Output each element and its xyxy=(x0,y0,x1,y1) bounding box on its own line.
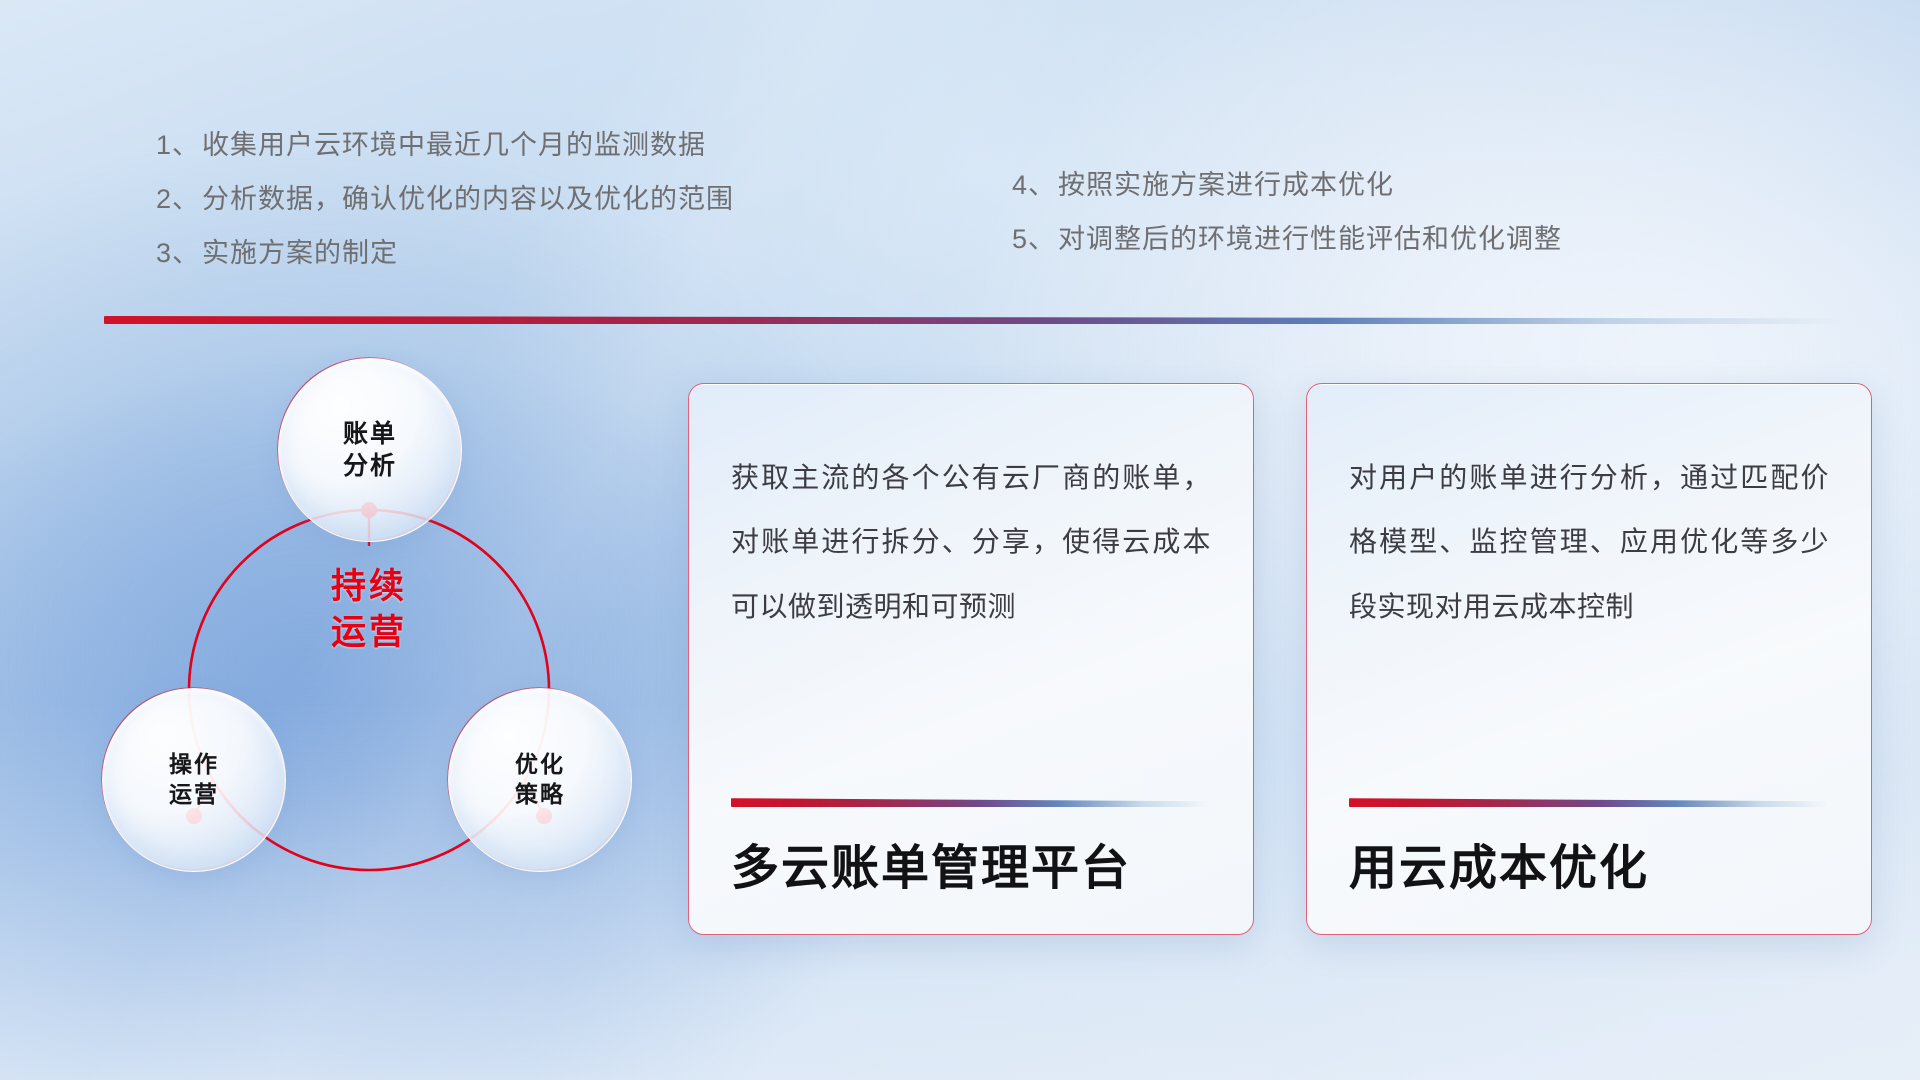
bubble-label-line2: 策略 xyxy=(515,780,565,810)
cycle-diagram: 账单 分析 操作 运营 优化 策略 持续 运营 xyxy=(96,350,676,950)
bullet-number: 3、 xyxy=(156,240,200,267)
bullet-item-4: 4、 按照实施方案进行成本优化 xyxy=(1012,158,1562,212)
cycle-bubble-billing-analysis[interactable]: 账单 分析 xyxy=(278,358,462,542)
slide-canvas: 1、 收集用户云环境中最近几个月的监测数据 2、 分析数据，确认优化的内容以及优… xyxy=(0,0,1920,1080)
card-divider-rule xyxy=(731,798,1211,807)
bubble-label-line1: 优化 xyxy=(515,750,565,780)
bullet-text: 对调整后的环境进行性能评估和优化调整 xyxy=(1058,226,1562,253)
bubble-label-line2: 运营 xyxy=(169,780,219,810)
feature-card-cloud-cost-optimization[interactable]: 对用户的账单进行分析，通过匹配价格模型、监控管理、应用优化等多少段实现对用云成本… xyxy=(1306,383,1872,935)
bullet-item-2: 2、 分析数据，确认优化的内容以及优化的范围 xyxy=(156,172,734,226)
cycle-center-line1: 持续 xyxy=(278,564,460,610)
card-title: 多云账单管理平台 xyxy=(731,843,1211,896)
bullet-text: 分析数据，确认优化的内容以及优化的范围 xyxy=(202,186,734,213)
bullet-list-left: 1、 收集用户云环境中最近几个月的监测数据 2、 分析数据，确认优化的内容以及优… xyxy=(156,118,734,280)
cycle-bubble-operations[interactable]: 操作 运营 xyxy=(102,688,286,872)
cycle-center-label: 持续 运营 xyxy=(278,564,460,655)
bullet-number: 1、 xyxy=(156,132,200,159)
bullet-number: 4、 xyxy=(1012,172,1056,199)
card-description: 对用户的账单进行分析，通过匹配价格模型、监控管理、应用优化等多少段实现对用云成本… xyxy=(1349,446,1829,639)
bullet-list-right: 4、 按照实施方案进行成本优化 5、 对调整后的环境进行性能评估和优化调整 xyxy=(1012,158,1562,266)
bullet-number: 2、 xyxy=(156,186,200,213)
cycle-bubble-optimization-strategy[interactable]: 优化 策略 xyxy=(448,688,632,872)
bubble-label-line2: 分析 xyxy=(343,450,397,483)
bullet-number: 5、 xyxy=(1012,226,1056,253)
bubble-label-line1: 账单 xyxy=(343,418,397,451)
bullet-text: 按照实施方案进行成本优化 xyxy=(1058,172,1394,199)
cycle-center-line2: 运营 xyxy=(278,610,460,656)
feature-card-multicloud-billing[interactable]: 获取主流的各个公有云厂商的账单，对账单进行拆分、分享，使得云成本可以做到透明和可… xyxy=(688,383,1254,935)
bullet-item-5: 5、 对调整后的环境进行性能评估和优化调整 xyxy=(1012,212,1562,266)
bullet-item-1: 1、 收集用户云环境中最近几个月的监测数据 xyxy=(156,118,734,172)
card-divider-rule xyxy=(1349,798,1829,807)
card-title: 用云成本优化 xyxy=(1349,843,1829,896)
bubble-label-line1: 操作 xyxy=(169,750,219,780)
bullet-item-3: 3、 实施方案的制定 xyxy=(156,226,734,280)
card-description: 获取主流的各个公有云厂商的账单，对账单进行拆分、分享，使得云成本可以做到透明和可… xyxy=(731,446,1211,639)
bullet-text: 实施方案的制定 xyxy=(202,240,398,267)
bullet-text: 收集用户云环境中最近几个月的监测数据 xyxy=(202,132,706,159)
